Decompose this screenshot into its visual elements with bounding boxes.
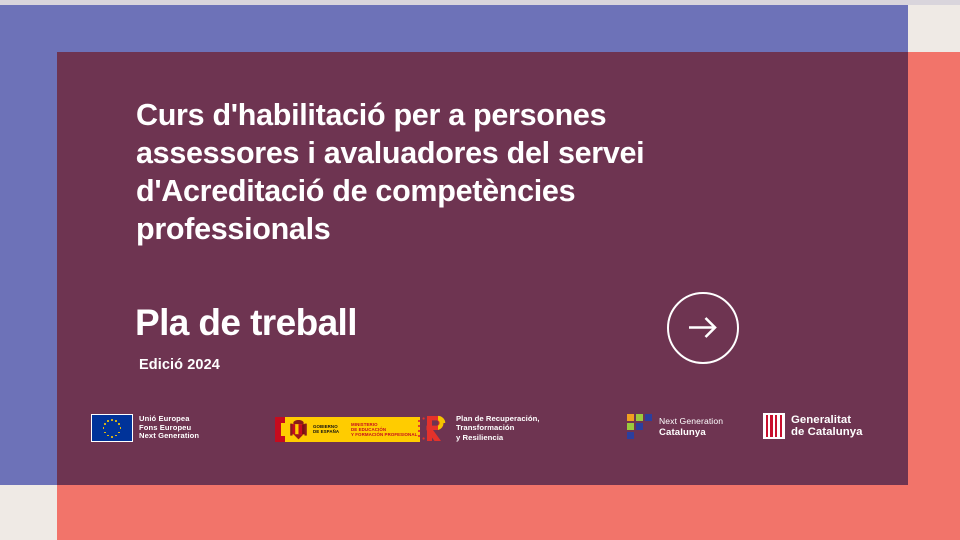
page-title: Curs d'habilitació per a persones assess… — [136, 96, 776, 248]
prtr-mark-icon — [416, 413, 450, 443]
arrow-right-icon — [669, 294, 736, 361]
ngc-pixel-grid-icon — [627, 414, 653, 440]
edition-label: Edició 2024 — [139, 357, 220, 373]
spain-government-plate: GOBIERNO DE ESPAÑA MINISTERIO DE EDUCACI… — [275, 417, 420, 442]
spain-coat-of-arms-icon — [289, 419, 308, 440]
logo-gobierno-de-espana: GOBIERNO DE ESPAÑA MINISTERIO DE EDUCACI… — [275, 417, 420, 442]
next-arrow-button[interactable] — [667, 292, 739, 364]
slide-subtitle: Pla de treball — [135, 300, 357, 346]
spain-flag-stripe — [281, 417, 285, 442]
generalitat-logo-line-1: Generalitat — [791, 414, 863, 426]
ngc-logo-line-1: Next Generation — [659, 416, 723, 426]
spain-ministry-label-left: GOBIERNO DE ESPAÑA — [313, 424, 339, 434]
footer-logo-strip: Unió Europea Fons Europeu Next Generatio… — [57, 408, 908, 470]
prtr-logo-line-1: Plan de Recuperación, — [456, 414, 540, 423]
logo-plan-de-recuperacion: Plan de Recuperación, Transformación y R… — [416, 413, 540, 443]
salmon-block-right — [908, 52, 960, 540]
spain-ministry-label-right: MINISTERIO DE EDUCACIÓN Y FORMACIÓN PROF… — [351, 422, 417, 437]
slide-panel: Curs d'habilitació per a persones assess… — [57, 52, 908, 485]
ngc-logo-line-2: Catalunya — [659, 427, 706, 438]
senyera-icon — [763, 413, 785, 439]
prtr-logo-line-3: y Resiliencia — [456, 433, 540, 442]
logo-unio-europea: Unió Europea Fons Europeu Next Generatio… — [91, 414, 199, 442]
salmon-block-bottom — [57, 485, 960, 540]
eu-logo-line-3: Next Generation — [139, 432, 199, 440]
eu-flag-icon — [91, 414, 133, 442]
prtr-logo-line-2: Transformación — [456, 423, 540, 432]
generalitat-logo-line-2: de Catalunya — [791, 426, 863, 438]
logo-next-generation-catalunya: Next Generation Catalunya — [627, 414, 723, 440]
logo-generalitat-de-catalunya: Generalitat de Catalunya — [763, 413, 863, 439]
